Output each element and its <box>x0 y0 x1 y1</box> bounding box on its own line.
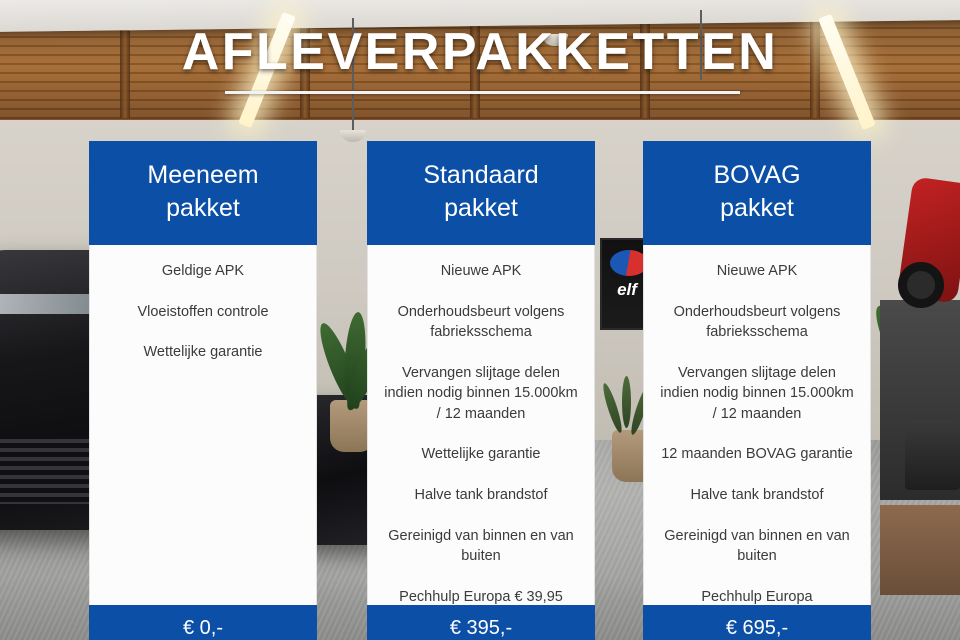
package-price: € 695,- <box>643 605 871 640</box>
package-title-line1: Meeneem <box>99 159 307 192</box>
package-feature-list: Geldige APK Vloeistoffen controle Wettel… <box>89 245 317 617</box>
title-divider <box>225 91 740 94</box>
package-feature-list: Nieuwe APK Onderhoudsbeurt volgens fabri… <box>367 245 595 624</box>
package-title-line2: pakket <box>653 192 861 225</box>
feature-item: Vervangen slijtage delen indien nodig bi… <box>658 363 856 425</box>
package-card-meeneem[interactable]: Meeneem pakket Geldige APK Vloeistoffen … <box>89 141 317 617</box>
feature-item: Halve tank brandstof <box>382 485 580 506</box>
feature-item: Wettelijke garantie <box>382 444 580 465</box>
feature-item: Wettelijke garantie <box>104 342 302 363</box>
feature-item: Nieuwe APK <box>382 261 580 282</box>
feature-item: Gereinigd van binnen en van buiten <box>658 526 856 567</box>
package-card-header: BOVAG pakket <box>643 141 871 245</box>
feature-item: Gereinigd van binnen en van buiten <box>382 526 580 567</box>
package-price: € 0,- <box>89 605 317 640</box>
package-card-header: Standaard pakket <box>367 141 595 245</box>
feature-item: Onderhoudsbeurt volgens fabrieksschema <box>382 302 580 343</box>
feature-item: Vervangen slijtage delen indien nodig bi… <box>382 363 580 425</box>
package-feature-list: Nieuwe APK Onderhoudsbeurt volgens fabri… <box>643 245 871 624</box>
package-card-standaard[interactable]: Standaard pakket Nieuwe APK Onderhoudsbe… <box>367 141 595 624</box>
package-card-bovag[interactable]: BOVAG pakket Nieuwe APK Onderhoudsbeurt … <box>643 141 871 624</box>
feature-item: Halve tank brandstof <box>658 485 856 506</box>
package-title-line1: BOVAG <box>653 159 861 192</box>
package-title-line1: Standaard <box>377 159 585 192</box>
feature-item: Nieuwe APK <box>658 261 856 282</box>
feature-item: Vloeistoffen controle <box>104 302 302 323</box>
package-card-header: Meeneem pakket <box>89 141 317 245</box>
package-price: € 395,- <box>367 605 595 640</box>
feature-item: 12 maanden BOVAG garantie <box>658 444 856 465</box>
feature-item: Onderhoudsbeurt volgens fabrieksschema <box>658 302 856 343</box>
package-title-line2: pakket <box>377 192 585 225</box>
feature-item: Geldige APK <box>104 261 302 282</box>
package-title-line2: pakket <box>99 192 307 225</box>
page-title: AFLEVERPAKKETTEN <box>0 22 960 82</box>
